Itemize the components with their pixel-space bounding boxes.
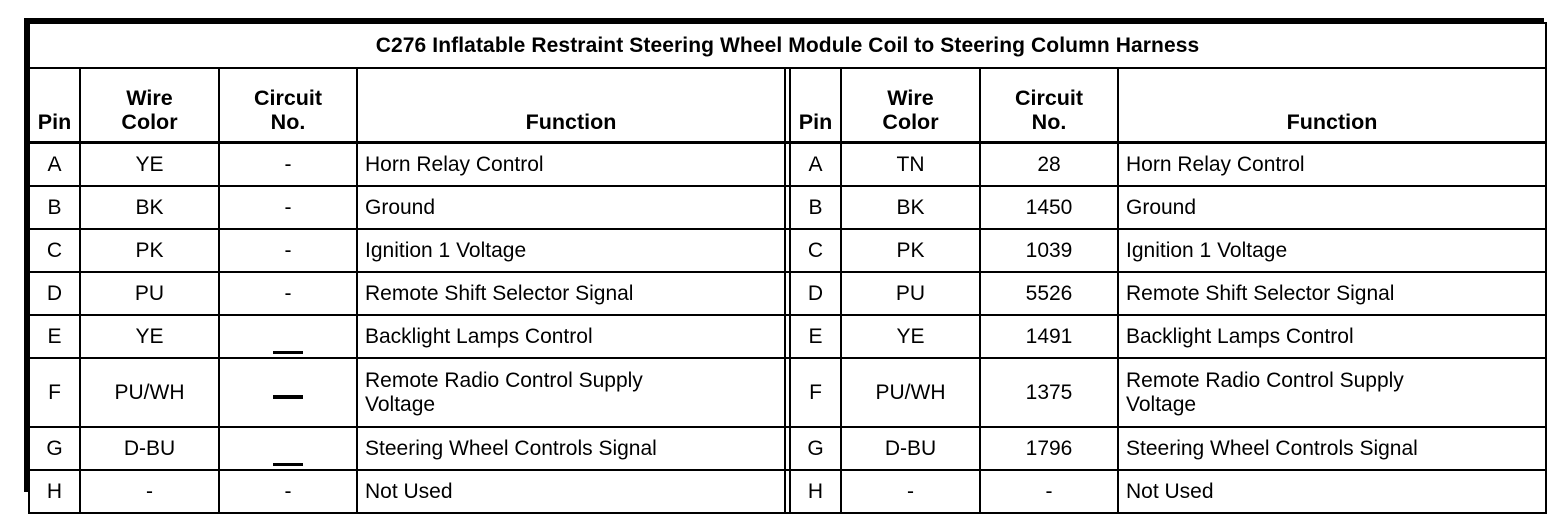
cell-pin-left: G xyxy=(29,427,80,470)
cell-function-left: Remote Radio Control SupplyVoltage xyxy=(357,358,785,427)
cell-function-right: Remote Shift Selector Signal xyxy=(1118,272,1546,315)
cell-circuit-right: 1039 xyxy=(980,229,1118,272)
circuit-value: - xyxy=(285,153,292,176)
cell-circuit-left xyxy=(219,315,357,358)
cell-function-left: Not Used xyxy=(357,470,785,513)
cell-pin-right: A xyxy=(790,143,841,187)
function-line: Voltage xyxy=(365,393,777,417)
cell-circuit-right: 1450 xyxy=(980,186,1118,229)
cell-function-left: Steering Wheel Controls Signal xyxy=(357,427,785,470)
cell-pin-left: H xyxy=(29,470,80,513)
circuit-value: - xyxy=(285,480,292,503)
cell-pin-left: D xyxy=(29,272,80,315)
circuit-underscore-mark xyxy=(273,452,303,455)
circuit-value: - xyxy=(285,196,292,219)
circuit-underscore-mark xyxy=(273,340,303,343)
cell-wire-color-right: D-BU xyxy=(841,427,980,470)
header-circuit-right-line1: Circuit xyxy=(988,86,1110,110)
cell-pin-left: B xyxy=(29,186,80,229)
cell-function-right: Ground xyxy=(1118,186,1546,229)
table-title: C276 Inflatable Restraint Steering Wheel… xyxy=(29,23,1546,68)
circuit-value: - xyxy=(285,239,292,262)
header-row: Pin Wire Color Circuit No. Function Pin … xyxy=(29,68,1546,143)
header-wire-color-left: Wire Color xyxy=(80,68,219,143)
header-wire-color-right: Wire Color xyxy=(841,68,980,143)
circuit-value: 1375 xyxy=(1026,381,1073,404)
cell-circuit-right: 28 xyxy=(980,143,1118,187)
circuit-value: 1450 xyxy=(1026,196,1073,219)
cell-wire-color-right: PU xyxy=(841,272,980,315)
header-circuit-right: Circuit No. xyxy=(980,68,1118,143)
cell-wire-color-left: YE xyxy=(80,315,219,358)
cell-circuit-left: - xyxy=(219,143,357,187)
cell-wire-color-left: - xyxy=(80,470,219,513)
circuit-value: 5526 xyxy=(1026,282,1073,305)
cell-pin-right: C xyxy=(790,229,841,272)
header-wire-color-left-line2: Color xyxy=(88,110,211,134)
pinout-table-body: C276 Inflatable Restraint Steering Wheel… xyxy=(29,23,1546,513)
circuit-value: 1039 xyxy=(1026,239,1073,262)
circuit-value: 1796 xyxy=(1026,437,1073,460)
table-row: H--Not UsedH--Not Used xyxy=(29,470,1546,513)
cell-circuit-left xyxy=(219,427,357,470)
cell-wire-color-left: YE xyxy=(80,143,219,187)
cell-pin-right: D xyxy=(790,272,841,315)
cell-circuit-right: 1375 xyxy=(980,358,1118,427)
cell-function-right: Remote Radio Control SupplyVoltage xyxy=(1118,358,1546,427)
cell-pin-right: E xyxy=(790,315,841,358)
header-circuit-right-line2: No. xyxy=(988,110,1110,134)
cell-wire-color-right: BK xyxy=(841,186,980,229)
cell-circuit-right: - xyxy=(980,470,1118,513)
header-wire-color-left-line1: Wire xyxy=(88,86,211,110)
cell-wire-color-right: YE xyxy=(841,315,980,358)
cell-wire-color-left: D-BU xyxy=(80,427,219,470)
cell-circuit-right: 5526 xyxy=(980,272,1118,315)
cell-circuit-right: 1491 xyxy=(980,315,1118,358)
table-row: GD-BUSteering Wheel Controls SignalGD-BU… xyxy=(29,427,1546,470)
circuit-emdash-mark xyxy=(273,395,303,399)
cell-function-left: Ground xyxy=(357,186,785,229)
cell-function-right: Not Used xyxy=(1118,470,1546,513)
cell-function-right: Horn Relay Control xyxy=(1118,143,1546,187)
cell-pin-left: A xyxy=(29,143,80,187)
circuit-value: - xyxy=(1046,480,1053,503)
cell-wire-color-left: PU xyxy=(80,272,219,315)
cell-function-right: Steering Wheel Controls Signal xyxy=(1118,427,1546,470)
header-circuit-left-line1: Circuit xyxy=(227,86,349,110)
connector-pinout-table: C276 Inflatable Restraint Steering Wheel… xyxy=(24,18,1544,492)
table-row: DPU-Remote Shift Selector SignalDPU5526R… xyxy=(29,272,1546,315)
cell-wire-color-left: BK xyxy=(80,186,219,229)
cell-circuit-left xyxy=(219,358,357,427)
table-row: BBK-GroundBBK1450Ground xyxy=(29,186,1546,229)
cell-function-left: Remote Shift Selector Signal xyxy=(357,272,785,315)
table-row: FPU/WHRemote Radio Control SupplyVoltage… xyxy=(29,358,1546,427)
cell-wire-color-left: PK xyxy=(80,229,219,272)
header-pin-right: Pin xyxy=(790,68,841,143)
cell-pin-right: F xyxy=(790,358,841,427)
pinout-table: C276 Inflatable Restraint Steering Wheel… xyxy=(28,22,1547,514)
cell-circuit-right: 1796 xyxy=(980,427,1118,470)
cell-pin-right: G xyxy=(790,427,841,470)
cell-wire-color-right: - xyxy=(841,470,980,513)
function-line: Voltage xyxy=(1126,393,1538,417)
cell-function-right: Ignition 1 Voltage xyxy=(1118,229,1546,272)
header-function-right: Function xyxy=(1118,68,1546,143)
cell-circuit-left: - xyxy=(219,470,357,513)
cell-function-left: Backlight Lamps Control xyxy=(357,315,785,358)
header-pin-left: Pin xyxy=(29,68,80,143)
header-circuit-left: Circuit No. xyxy=(219,68,357,143)
cell-wire-color-left: PU/WH xyxy=(80,358,219,427)
cell-function-left: Horn Relay Control xyxy=(357,143,785,187)
table-row: AYE-Horn Relay ControlATN28Horn Relay Co… xyxy=(29,143,1546,187)
cell-circuit-left: - xyxy=(219,272,357,315)
cell-circuit-left: - xyxy=(219,229,357,272)
circuit-value: - xyxy=(285,282,292,305)
cell-function-right: Backlight Lamps Control xyxy=(1118,315,1546,358)
cell-pin-left: C xyxy=(29,229,80,272)
circuit-value: 1491 xyxy=(1026,325,1073,348)
cell-wire-color-right: PK xyxy=(841,229,980,272)
table-row: EYEBacklight Lamps ControlEYE1491Backlig… xyxy=(29,315,1546,358)
header-wire-color-right-line1: Wire xyxy=(849,86,972,110)
cell-wire-color-right: PU/WH xyxy=(841,358,980,427)
circuit-value: 28 xyxy=(1037,153,1060,176)
cell-pin-right: B xyxy=(790,186,841,229)
function-line: Remote Radio Control Supply xyxy=(1126,369,1538,393)
table-row: CPK-Ignition 1 VoltageCPK1039Ignition 1 … xyxy=(29,229,1546,272)
cell-wire-color-right: TN xyxy=(841,143,980,187)
header-wire-color-right-line2: Color xyxy=(849,110,972,134)
cell-circuit-left: - xyxy=(219,186,357,229)
cell-function-left: Ignition 1 Voltage xyxy=(357,229,785,272)
cell-pin-right: H xyxy=(790,470,841,513)
function-line: Remote Radio Control Supply xyxy=(365,369,777,393)
header-circuit-left-line2: No. xyxy=(227,110,349,134)
title-row: C276 Inflatable Restraint Steering Wheel… xyxy=(29,23,1546,68)
header-function-left: Function xyxy=(357,68,785,143)
cell-pin-left: F xyxy=(29,358,80,427)
cell-pin-left: E xyxy=(29,315,80,358)
